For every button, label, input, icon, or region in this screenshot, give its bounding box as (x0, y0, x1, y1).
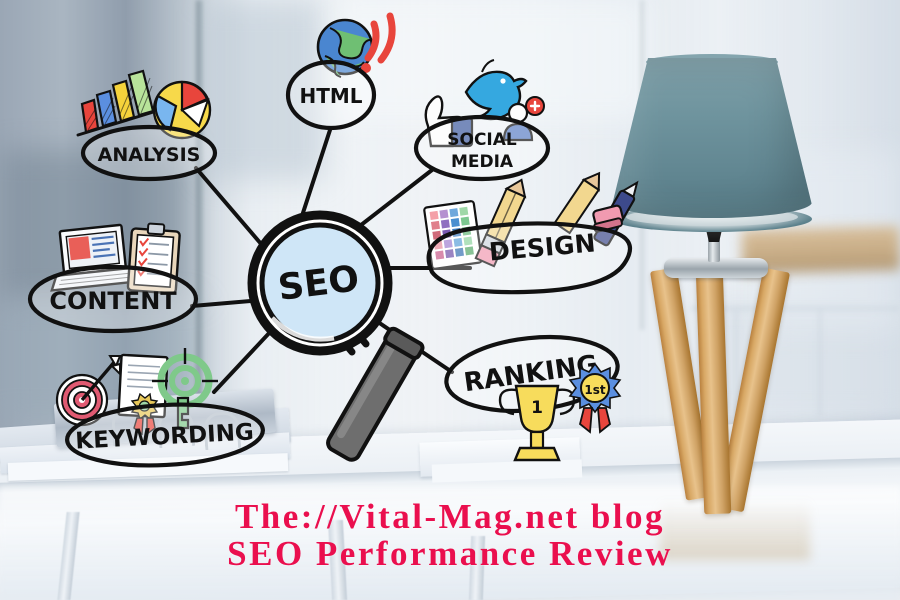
node-keywording: KEYWORDING (57, 348, 264, 470)
label-social-media-line2: MEDIA (451, 152, 514, 172)
label-analysis: ANALYSIS (98, 144, 201, 166)
node-ranking: RANKING 1 1st (443, 329, 622, 460)
overlay-title-line-2: SEO Performance Review (0, 535, 900, 572)
trophy-number: 1 (531, 398, 543, 418)
node-social-media: SOCIAL MEDIA (416, 60, 548, 179)
node-html: HTML (288, 16, 392, 128)
label-social-media-line1: SOCIAL (447, 130, 517, 150)
node-content: CONTENT (30, 222, 196, 331)
label-html: HTML (299, 84, 362, 108)
node-design: DESIGN (424, 168, 642, 292)
rosette-label: 1st (584, 383, 605, 397)
magnifying-glass-icon: SEO (252, 215, 424, 464)
blog-header-image: .ink{fill:none;stroke:#111;stroke-lineca… (0, 0, 900, 600)
overlay-title-line-1: The://Vital-Mag.net blog (0, 498, 900, 535)
label-content: CONTENT (49, 287, 177, 315)
node-analysis: ANALYSIS (78, 71, 215, 179)
overlay-title: The://Vital-Mag.net blog SEO Performance… (0, 498, 900, 572)
